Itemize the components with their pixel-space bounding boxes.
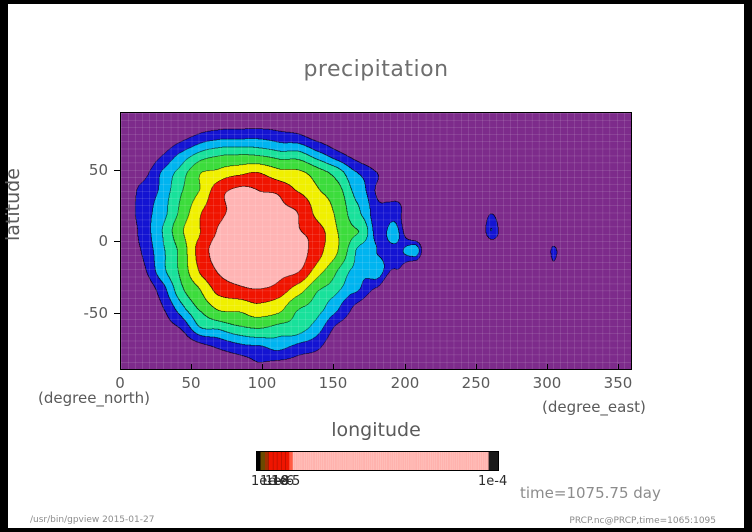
colorbar-tick-label: 1e-5 <box>271 474 300 489</box>
ytick-label: -50 <box>62 304 108 322</box>
colorbar-low-labels: 1e-10 1e-8 1e-6 1e-5 <box>251 474 341 490</box>
footer-source: PRCP.nc@PRCP,time=1065:1095 <box>569 516 716 526</box>
y-axis-unit: (degree_north) <box>38 389 150 407</box>
xtick-label: 350 <box>604 374 633 392</box>
xtick-mark <box>547 364 548 370</box>
xtick-label: 300 <box>533 374 562 392</box>
xtick-label: 150 <box>319 374 348 392</box>
xtick-label: 200 <box>391 374 420 392</box>
ytick-label: 0 <box>62 232 108 250</box>
figure-canvas: precipitation 0 50 100 150 200 250 300 3… <box>8 4 744 528</box>
ytick-mark <box>114 170 120 171</box>
colorbar-max-label: 1e-4 <box>478 474 507 489</box>
page-title: precipitation <box>8 57 744 82</box>
xtick-mark <box>618 364 619 370</box>
xtick-mark <box>405 364 406 370</box>
contour-plot-canvas <box>121 113 631 369</box>
footer-command: /usr/bin/gpview 2015-01-27 <box>30 515 154 525</box>
colorbar-canvas <box>257 452 498 470</box>
xtick-mark <box>333 364 334 370</box>
contour-plot <box>120 112 632 370</box>
xtick-label: 50 <box>181 374 200 392</box>
y-axis-label: latitude <box>2 168 24 241</box>
xtick-mark <box>120 364 121 370</box>
xtick-mark <box>476 364 477 370</box>
x-axis-unit: (degree_east) <box>542 398 646 416</box>
xtick-label: 250 <box>462 374 491 392</box>
ytick-mark <box>114 241 120 242</box>
colorbar <box>256 451 499 471</box>
x-axis-label: longitude <box>8 419 744 441</box>
xtick-mark <box>262 364 263 370</box>
xtick-mark <box>191 364 192 370</box>
ytick-label: 50 <box>62 161 108 179</box>
time-annotation: time=1075.75 day <box>520 484 661 502</box>
ytick-mark <box>114 313 120 314</box>
xtick-label: 100 <box>248 374 277 392</box>
